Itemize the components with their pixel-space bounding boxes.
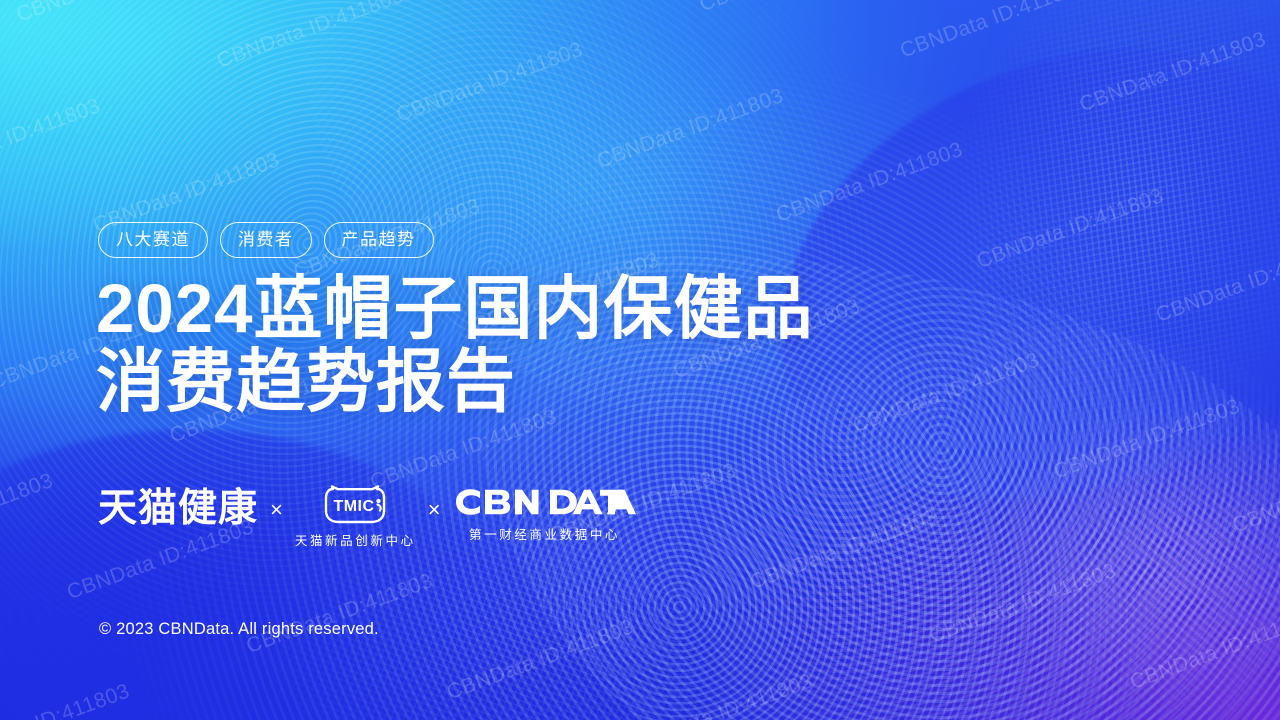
logo-tmic[interactable]: TMIC 天猫新品创新中心: [295, 485, 416, 549]
title-line-1: 2024蓝帽子国内保健品: [96, 272, 814, 345]
badge-consumers[interactable]: 消费者: [220, 222, 312, 258]
partner-logo-row: 天猫健康 × TMIC 天猫新品创新中心 ×: [98, 485, 637, 549]
logo-separator-1-icon: ×: [270, 485, 283, 521]
svg-text:TMIC: TMIC: [334, 498, 375, 515]
logo-separator-2-icon: ×: [428, 485, 441, 521]
logo-cbndata[interactable]: 第一财经商业数据中心: [453, 485, 637, 543]
cbndata-wordmark-icon: [453, 485, 637, 519]
logo-tmic-subtitle: 天猫新品创新中心: [295, 530, 416, 549]
badge-row: 八大赛道 消费者 产品趋势: [98, 222, 434, 258]
copyright-notice: © 2023 CBNData. All rights reserved.: [99, 620, 379, 639]
badge-product-trends[interactable]: 产品趋势: [324, 222, 434, 258]
logo-tmall-health[interactable]: 天猫健康: [98, 485, 258, 528]
slide-content: 八大赛道 消费者 产品趋势 2024蓝帽子国内保健品 消费趋势报告 天猫健康 ×…: [0, 0, 1280, 720]
badge-eight-tracks[interactable]: 八大赛道: [98, 222, 208, 258]
title-line-2: 消费趋势报告: [96, 345, 814, 418]
page-title: 2024蓝帽子国内保健品 消费趋势报告: [96, 272, 814, 418]
tmic-cat-head-icon: TMIC: [318, 485, 392, 525]
logo-cbndata-subtitle: 第一财经商业数据中心: [469, 524, 620, 543]
logo-tmall-health-text: 天猫健康: [98, 485, 258, 528]
slide-canvas: CBNData ID:411803CBNData ID:411803CBNDat…: [0, 0, 1280, 720]
